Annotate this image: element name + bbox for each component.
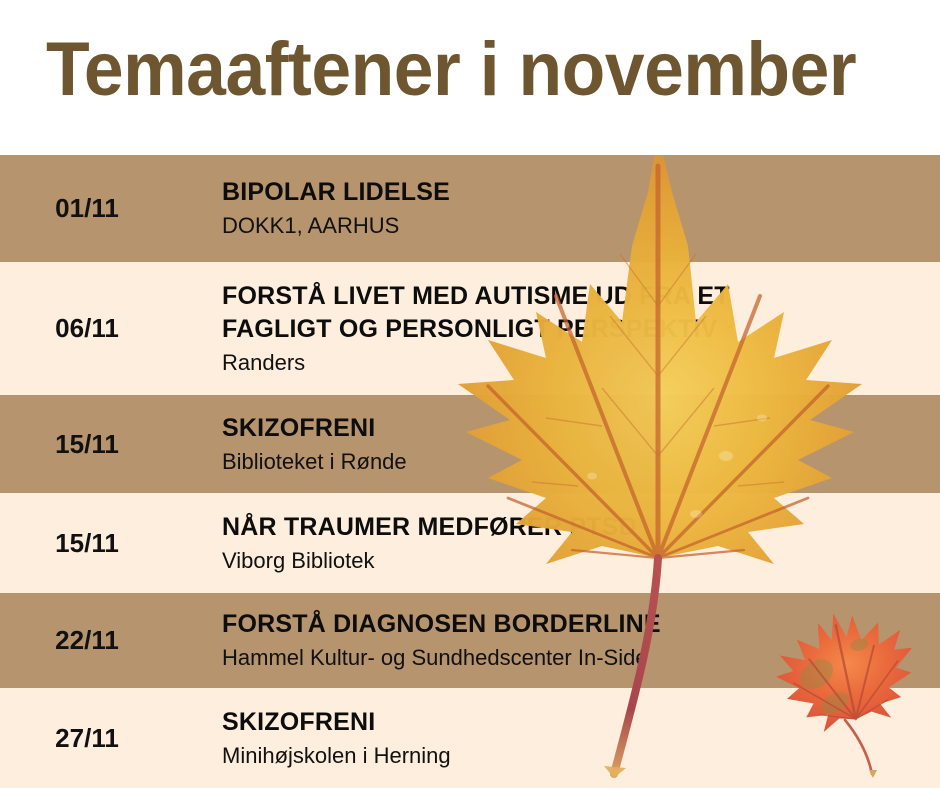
event-venue: Viborg Bibliotek xyxy=(222,546,940,576)
event-row: 15/11 SKIZOFRENI Biblioteket i Rønde xyxy=(0,395,940,493)
event-list: 01/11 BIPOLAR LIDELSE DOKK1, AARHUS 06/1… xyxy=(0,155,940,788)
event-venue: Hammel Kultur- og Sundhedscenter In-Side xyxy=(222,643,940,673)
event-venue: Randers xyxy=(222,348,940,378)
event-date: 27/11 xyxy=(0,723,160,754)
event-title: NÅR TRAUMER MEDFØRER PTSD xyxy=(222,511,940,544)
event-venue: Minihøjskolen i Herning xyxy=(222,741,940,771)
event-date: 15/11 xyxy=(0,528,160,559)
event-date: 15/11 xyxy=(0,429,160,460)
event-title: FORSTÅ LIVET MED AUTISME UD FRA ET FAGLI… xyxy=(222,280,940,346)
event-date: 22/11 xyxy=(0,625,160,656)
event-title: SKIZOFRENI xyxy=(222,706,940,739)
event-row: 27/11 SKIZOFRENI Minihøjskolen i Herning xyxy=(0,688,940,788)
event-row: 15/11 NÅR TRAUMER MEDFØRER PTSD Viborg B… xyxy=(0,493,940,593)
event-venue: Biblioteket i Rønde xyxy=(222,447,940,477)
event-title: SKIZOFRENI xyxy=(222,412,940,445)
event-row: 06/11 FORSTÅ LIVET MED AUTISME UD FRA ET… xyxy=(0,262,940,395)
poster-canvas: Temaaftener i november 01/11 BIPOLAR LID… xyxy=(0,0,940,788)
event-row: 22/11 FORSTÅ DIAGNOSEN BORDERLINE Hammel… xyxy=(0,593,940,688)
event-venue: DOKK1, AARHUS xyxy=(222,211,940,241)
event-row: 01/11 BIPOLAR LIDELSE DOKK1, AARHUS xyxy=(0,155,940,262)
event-title: BIPOLAR LIDELSE xyxy=(222,176,940,209)
event-date: 06/11 xyxy=(0,313,160,344)
page-title: Temaaftener i november xyxy=(46,24,856,116)
poster-header: Temaaftener i november xyxy=(0,0,940,155)
event-date: 01/11 xyxy=(0,193,160,224)
event-title: FORSTÅ DIAGNOSEN BORDERLINE xyxy=(222,608,940,641)
